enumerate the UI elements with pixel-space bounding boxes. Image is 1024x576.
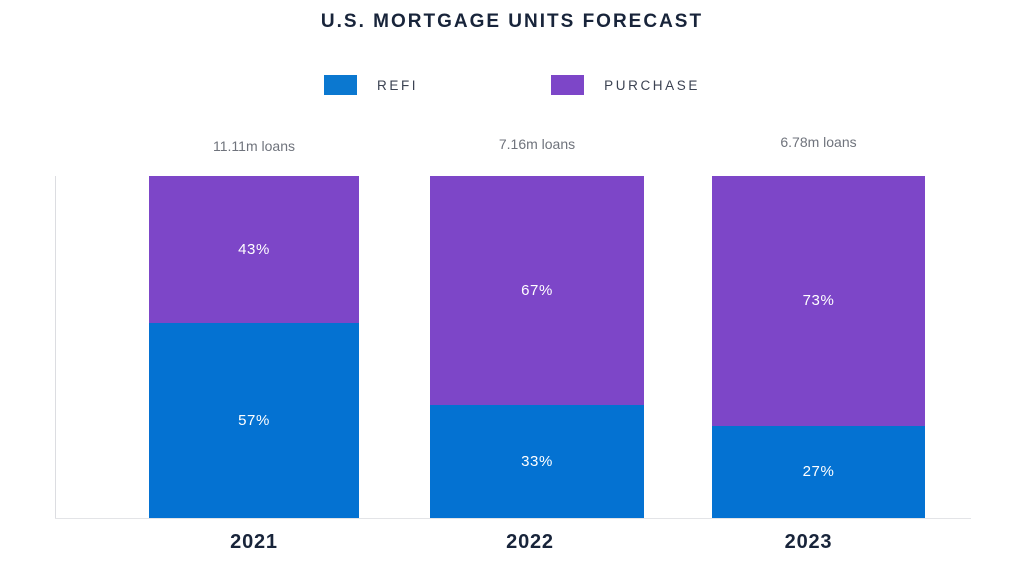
bar-segment-label-purchase-2022: 67% bbox=[521, 282, 553, 299]
bar-segment-purchase-2023[interactable]: 73% bbox=[712, 176, 925, 426]
bar-segment-purchase-2022[interactable]: 67% bbox=[430, 176, 644, 405]
bar-total-label-2022: 7.16m loans bbox=[430, 136, 644, 152]
bar-segment-label-purchase-2021: 43% bbox=[238, 241, 270, 258]
bar-total-label-2023: 6.78m loans bbox=[712, 134, 925, 150]
x-axis-label-2023: 2023 bbox=[702, 531, 915, 554]
x-axis-label-2021: 2021 bbox=[149, 531, 359, 554]
bar-segment-refi-2023[interactable]: 27% bbox=[712, 426, 925, 518]
bar-segment-label-refi-2023: 27% bbox=[803, 463, 835, 480]
bar-stack-2022[interactable]: 67% 33% bbox=[430, 176, 644, 518]
bar-segment-refi-2021[interactable]: 57% bbox=[149, 323, 359, 518]
y-axis-line bbox=[55, 176, 56, 519]
x-axis-line bbox=[55, 518, 971, 519]
bar-total-label-2021: 11.11m loans bbox=[149, 138, 359, 154]
bar-segment-purchase-2021[interactable]: 43% bbox=[149, 176, 359, 323]
bar-stack-2023[interactable]: 73% 27% bbox=[712, 176, 925, 518]
plot-area: 11.11m loans 43% 57% 2021 7.16m loans 67… bbox=[0, 0, 1024, 576]
x-axis-label-2022: 2022 bbox=[423, 531, 637, 554]
bar-stack-2021[interactable]: 43% 57% bbox=[149, 176, 359, 518]
chart-container: U.S. MORTGAGE UNITS FORECAST REFI PURCHA… bbox=[0, 0, 1024, 576]
bar-segment-refi-2022[interactable]: 33% bbox=[430, 405, 644, 518]
bar-segment-label-refi-2022: 33% bbox=[521, 453, 553, 470]
bar-segment-label-refi-2021: 57% bbox=[238, 412, 270, 429]
bar-segment-label-purchase-2023: 73% bbox=[803, 292, 835, 309]
